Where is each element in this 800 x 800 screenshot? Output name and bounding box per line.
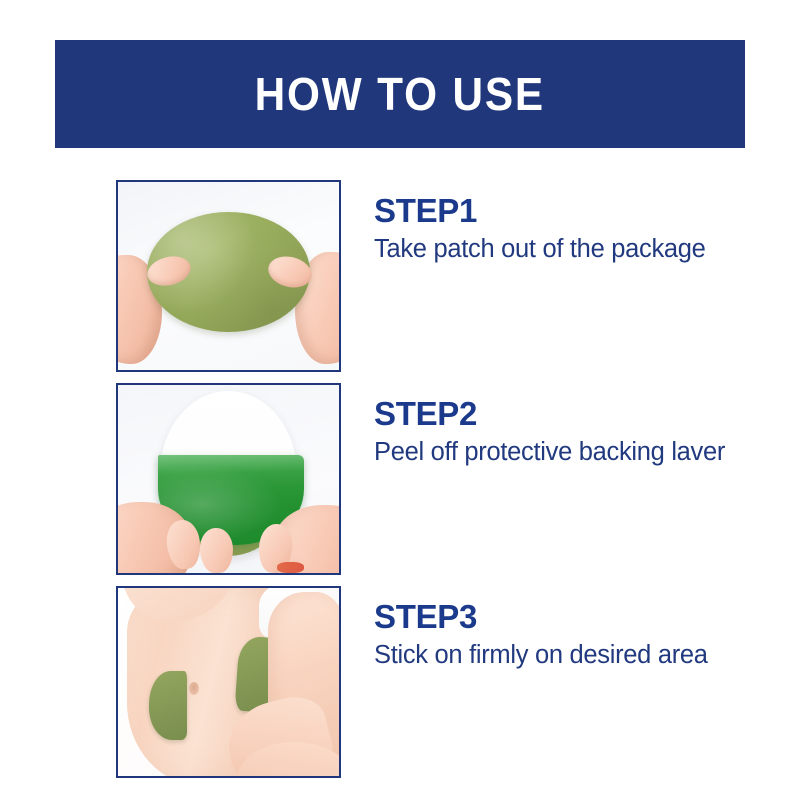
steps-list: STEP1 Take patch out of the package S: [0, 180, 800, 789]
step-row-2: STEP2 Peel off protective backing laver: [0, 383, 800, 575]
finger: [199, 527, 234, 573]
step-1-heading: STEP1: [374, 194, 774, 229]
applied-patch-left: [149, 671, 187, 741]
step-1-photo: [116, 180, 341, 372]
navel: [189, 682, 199, 695]
step-3-photo: [116, 586, 341, 778]
step-2-description: Peel off protective backing laver: [374, 436, 746, 468]
header-banner: HOW TO USE: [55, 40, 745, 148]
step-row-1: STEP1 Take patch out of the package: [0, 180, 800, 372]
page-title: HOW TO USE: [255, 71, 545, 117]
background-accent: [277, 562, 304, 573]
step-3-heading: STEP3: [374, 600, 774, 635]
step-2-heading: STEP2: [374, 397, 774, 432]
step-2-text: STEP2 Peel off protective backing laver: [374, 397, 774, 468]
step-3-description: Stick on firmly on desired area: [374, 639, 746, 671]
step-1-text: STEP1 Take patch out of the package: [374, 194, 774, 265]
step-1-description: Take patch out of the package: [374, 233, 746, 265]
step-3-text: STEP3 Stick on firmly on desired area: [374, 600, 774, 671]
step-2-photo: [116, 383, 341, 575]
step-row-3: STEP3 Stick on firmly on desired area: [0, 586, 800, 778]
how-to-use-infographic: HOW TO USE STEP1 Take patch out of the p…: [0, 0, 800, 800]
